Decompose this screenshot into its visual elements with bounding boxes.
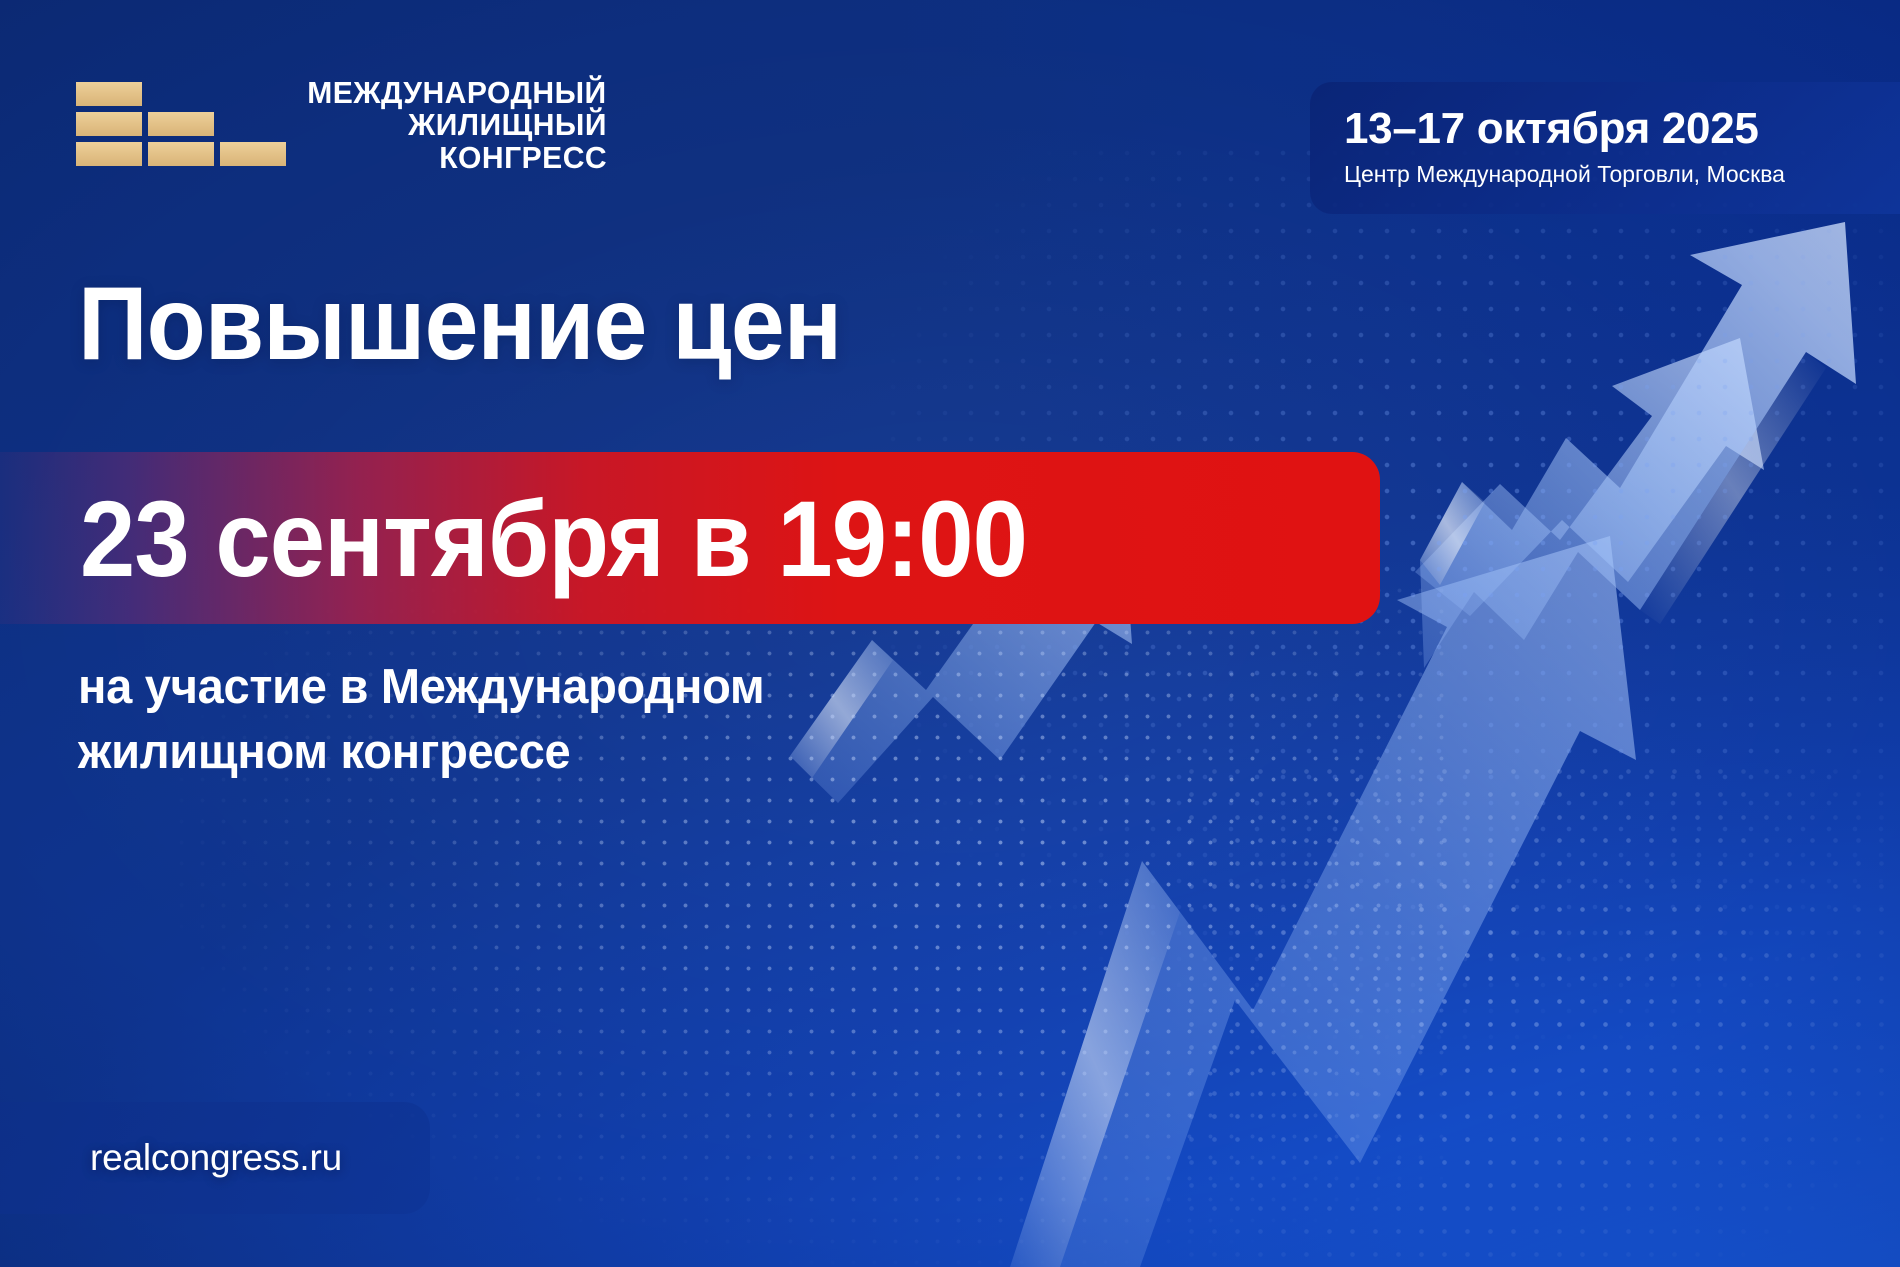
- event-dates: 13–17 октября 2025: [1344, 104, 1900, 154]
- logo-line-3: КОНГРЕСС: [439, 143, 607, 172]
- brick: [76, 142, 142, 166]
- brick-row-3: [76, 142, 286, 166]
- event-venue: Центр Международной Торговли, Москва: [1344, 161, 1900, 188]
- brick: [148, 112, 214, 136]
- logo-line-1: МЕЖДУНАРОДНЫЙ: [307, 78, 606, 107]
- brick: [148, 142, 214, 166]
- brick-row-2: [76, 112, 286, 136]
- promo-banner: МЕЖДУНАРОДНЫЙ ЖИЛИЩНЫЙ КОНГРЕСС 13–17 ок…: [0, 0, 1900, 1267]
- brick-row-1: [76, 82, 286, 106]
- brick-wall-icon: [76, 78, 286, 166]
- logo-wordmark: МЕЖДУНАРОДНЫЙ ЖИЛИЩНЫЙ КОНГРЕСС: [298, 78, 607, 175]
- subtitle-line-2: жилищном конгрессе: [78, 720, 764, 785]
- event-date-badge: 13–17 октября 2025 Центр Международной Т…: [1310, 82, 1900, 214]
- website-url[interactable]: realcongress.ru: [90, 1137, 342, 1179]
- page-title: Повышение цен: [78, 272, 841, 376]
- subtitle: на участие в Международном жилищном конг…: [78, 655, 764, 784]
- brick: [76, 82, 142, 106]
- brick: [220, 142, 286, 166]
- congress-logo[interactable]: МЕЖДУНАРОДНЫЙ ЖИЛИЩНЫЙ КОНГРЕСС: [76, 78, 607, 175]
- logo-line-2: ЖИЛИЩНЫЙ: [408, 110, 607, 139]
- subtitle-line-1: на участие в Международном: [78, 655, 764, 720]
- website-badge[interactable]: realcongress.ru: [0, 1102, 430, 1214]
- brick: [76, 112, 142, 136]
- deadline-text: 23 сентября в 19:00: [80, 474, 1027, 604]
